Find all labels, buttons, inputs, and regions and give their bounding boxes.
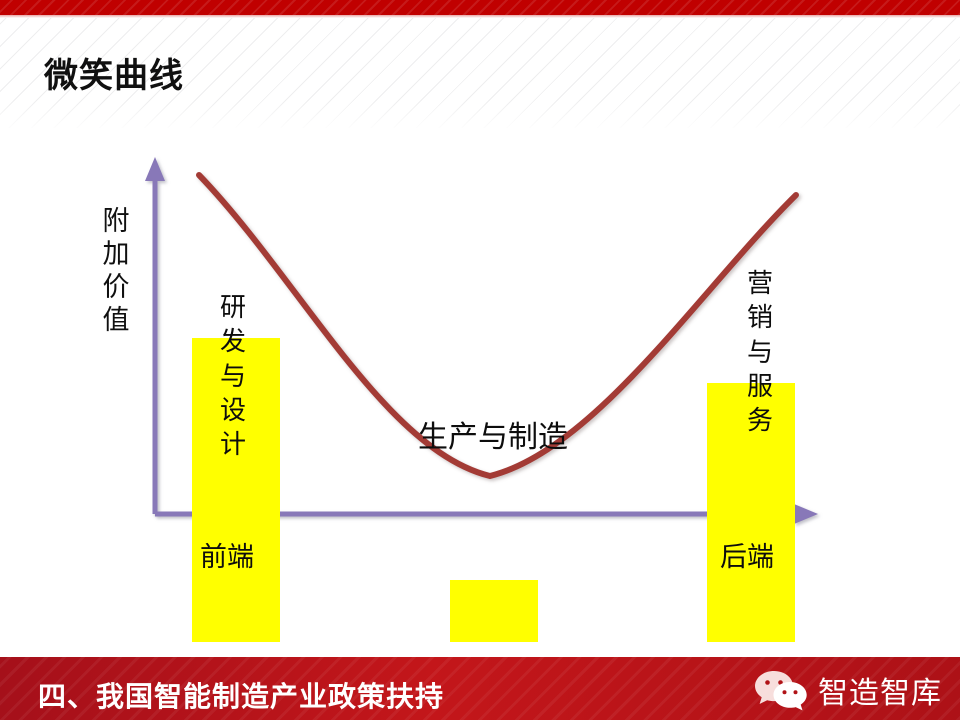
bar-label-char: 发 [213, 324, 253, 358]
bar-production-and-manufacturing[interactable] [450, 580, 538, 642]
wechat-icon [754, 669, 810, 711]
smile-curve-chart [0, 130, 960, 630]
y-axis-title: 附 加 价 值 [96, 205, 136, 337]
bar-label-char: 计 [213, 427, 253, 461]
bar-label-char: 服 [740, 369, 780, 403]
footer-section-title: 四、我国智能制造产业政策扶持 [38, 675, 444, 715]
x-tick-label-front-end: 前端 [200, 535, 254, 574]
y-axis [145, 157, 165, 514]
bar-label-char: 营 [740, 266, 780, 300]
bar-label-char: 研 [213, 290, 253, 324]
bar-label-char: 与 [213, 359, 253, 393]
top-accent-bar [0, 0, 960, 15]
bar-label-marketing-and-service: 营 销 与 服 务 [740, 266, 780, 438]
chart-svg [0, 130, 960, 630]
bar-label-char: 与 [740, 335, 780, 369]
bar-label-production-and-manufacturing: 生产与制造 [418, 412, 568, 456]
y-axis-title-char: 价 [96, 271, 136, 304]
brand-lockup: 智造智库 [754, 668, 942, 712]
y-axis-title-char: 加 [96, 238, 136, 271]
bar-label-research-and-design: 研 发 与 设 计 [213, 290, 253, 462]
y-axis-title-char: 附 [96, 205, 136, 238]
slide-canvas: 微笑曲线 [0, 0, 960, 720]
bar-label-char: 务 [740, 403, 780, 437]
brand-name: 智造智库 [818, 668, 942, 712]
bar-label-char: 设 [213, 393, 253, 427]
page-title: 微笑曲线 [44, 48, 184, 97]
y-axis-title-char: 值 [96, 304, 136, 337]
bar-label-char: 销 [740, 300, 780, 334]
x-tick-label-back-end: 后端 [720, 535, 774, 574]
